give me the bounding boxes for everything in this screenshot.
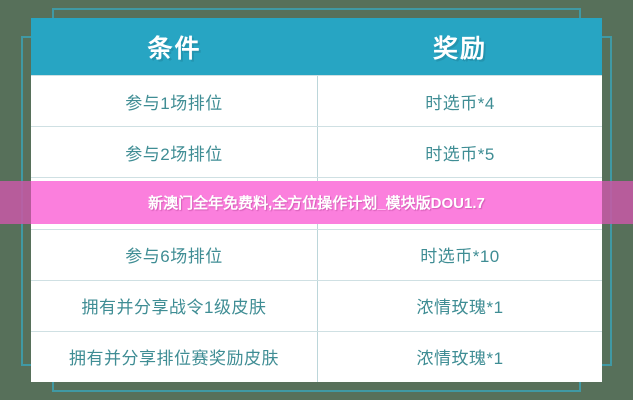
table-row: 拥有并分享排位赛奖励皮肤 浓情玫瑰*1 <box>31 331 602 382</box>
table-row: 参与2场排位 时选币*5 <box>31 126 602 177</box>
header-condition: 条件 <box>31 18 318 75</box>
table-row: 参与1场排位 时选币*4 <box>31 75 602 126</box>
table-header-row: 条件 奖励 <box>31 18 602 75</box>
cell-reward: 时选币*10 <box>318 230 602 280</box>
table-row: 参与6场排位 时选币*10 <box>31 229 602 280</box>
watermark-banner: 新澳门全年免费料,全方位操作计划_模块版DOU1.7 <box>0 181 633 224</box>
cell-reward: 浓情玫瑰*1 <box>318 281 602 331</box>
cell-reward: 浓情玫瑰*1 <box>318 332 602 382</box>
cell-condition: 参与6场排位 <box>31 230 318 280</box>
cell-reward: 时选币*5 <box>318 127 602 177</box>
table-row: 拥有并分享战令1级皮肤 浓情玫瑰*1 <box>31 280 602 331</box>
cell-reward: 时选币*4 <box>318 76 602 126</box>
cell-condition: 拥有并分享排位赛奖励皮肤 <box>31 332 318 382</box>
cell-condition: 参与1场排位 <box>31 76 318 126</box>
header-reward: 奖励 <box>318 18 602 75</box>
cell-condition: 拥有并分享战令1级皮肤 <box>31 281 318 331</box>
watermark-text: 新澳门全年免费料,全方位操作计划_模块版DOU1.7 <box>148 192 485 213</box>
cell-condition: 参与2场排位 <box>31 127 318 177</box>
